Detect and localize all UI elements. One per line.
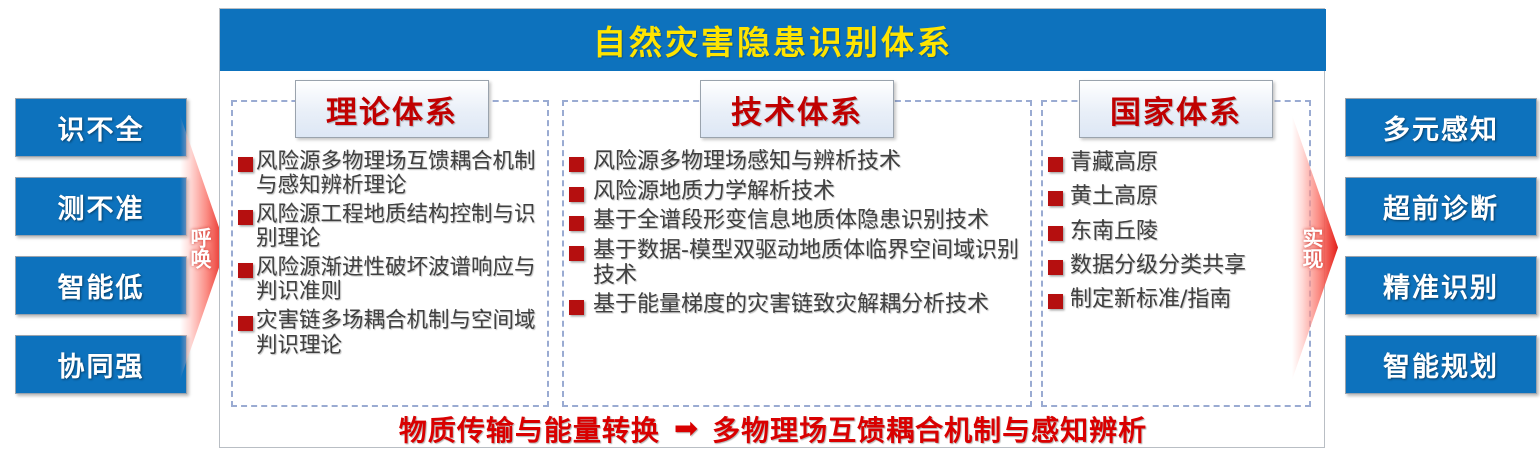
- list-item[interactable]: 风险源多物理场感知与辨析技术: [569, 150, 1024, 175]
- bullet-square-icon: [238, 316, 253, 331]
- bullet-square-icon: [569, 157, 584, 172]
- bullet-square-icon: [238, 263, 253, 278]
- column-technology-header: 技术体系: [700, 80, 894, 138]
- column-technology-list: 风险源多物理场感知与辨析技术 风险源地质力学解析技术 基于全谱段形变信息地质体隐…: [564, 150, 1030, 323]
- list-item[interactable]: 风险源地质力学解析技术: [569, 180, 1024, 205]
- column-technology-title: 技术体系: [731, 87, 863, 132]
- left-arrow-label: 呼唤: [188, 227, 210, 269]
- right-item-2-label: 精准识别: [1383, 266, 1499, 305]
- list-item-label: 风险源多物理场感知与辨析技术: [593, 150, 901, 175]
- list-item[interactable]: 基于能量梯度的灾害链致灾解耦分析技术: [569, 293, 1024, 318]
- bullet-square-icon: [569, 300, 584, 315]
- bullet-square-icon: [238, 157, 253, 172]
- right-goal-column: 多元感知 超前诊断 精准识别 智能规划: [1340, 0, 1540, 456]
- list-item-label: 数据分级分类共享: [1070, 253, 1246, 278]
- list-item[interactable]: 风险源渐进性破坏波谱响应与判识准则: [238, 256, 541, 304]
- column-national-list: 青藏高原 黄土高原 东南丘陵 数据分级分类共享 制定新标准/指南: [1043, 150, 1309, 321]
- page-title: 自然灾害隐患识别体系: [593, 16, 953, 64]
- left-item-2[interactable]: 智能低: [15, 256, 187, 315]
- right-arrow-icon: ➡: [674, 415, 698, 444]
- left-item-1-label: 测不准: [58, 187, 145, 226]
- list-item[interactable]: 基于数据-模型双驱动地质体临界空间域识别技术: [569, 239, 1024, 288]
- bullet-square-icon: [569, 216, 584, 231]
- list-item[interactable]: 风险源工程地质结构控制与识别理论: [238, 203, 541, 251]
- footer-right-text: 多物理场互馈耦合机制与感知辨析: [712, 409, 1147, 449]
- column-national: 国家体系 青藏高原 黄土高原 东南丘陵 数据分级分类共享 制定新标准/指南: [1041, 100, 1311, 407]
- list-item-label: 基于能量梯度的灾害链致灾解耦分析技术: [593, 293, 989, 318]
- list-item-label: 制定新标准/指南: [1070, 287, 1231, 312]
- bullet-square-icon: [1048, 260, 1063, 275]
- right-item-3[interactable]: 智能规划: [1345, 335, 1537, 394]
- list-item[interactable]: 东南丘陵: [1048, 219, 1303, 244]
- left-item-2-label: 智能低: [58, 266, 145, 305]
- right-item-0[interactable]: 多元感知: [1345, 98, 1537, 157]
- list-item[interactable]: 黄土高原: [1048, 184, 1303, 209]
- column-theory-title: 理论体系: [326, 87, 458, 132]
- left-item-1[interactable]: 测不准: [15, 177, 187, 236]
- right-item-1[interactable]: 超前诊断: [1345, 177, 1537, 236]
- list-item[interactable]: 数据分级分类共享: [1048, 253, 1303, 278]
- bullet-square-icon: [1048, 226, 1063, 241]
- panel-title-bar: 自然灾害隐患识别体系: [220, 9, 1326, 71]
- list-item[interactable]: 基于全谱段形变信息地质体隐患识别技术: [569, 209, 1024, 234]
- list-item[interactable]: 制定新标准/指南: [1048, 287, 1303, 312]
- list-item-label: 风险源地质力学解析技术: [593, 180, 835, 205]
- left-problem-column: 识不全 测不准 智能低 协同强: [0, 0, 200, 456]
- left-item-3-label: 协同强: [58, 345, 145, 384]
- footer-caption: 物质传输与能量转换 ➡ 多物理场互馈耦合机制与感知辨析: [220, 409, 1326, 449]
- footer-left-text: 物质传输与能量转换: [399, 409, 660, 449]
- column-national-header: 国家体系: [1079, 80, 1273, 138]
- bullet-square-icon: [1048, 157, 1063, 172]
- left-item-0-label: 识不全: [58, 108, 145, 147]
- list-item-label: 风险源渐进性破坏波谱响应与判识准则: [256, 256, 541, 304]
- list-item-label: 基于全谱段形变信息地质体隐患识别技术: [593, 209, 989, 234]
- right-item-3-label: 智能规划: [1383, 345, 1499, 384]
- left-item-0[interactable]: 识不全: [15, 98, 187, 157]
- column-theory-header: 理论体系: [295, 80, 489, 138]
- list-item-label: 青藏高原: [1070, 150, 1158, 175]
- column-national-title: 国家体系: [1110, 87, 1242, 132]
- bullet-square-icon: [1048, 191, 1063, 206]
- list-item[interactable]: 灾害链多场耦合机制与空间域判识理论: [238, 309, 541, 357]
- bullet-square-icon: [1048, 294, 1063, 309]
- right-item-2[interactable]: 精准识别: [1345, 256, 1537, 315]
- list-item-label: 黄土高原: [1070, 184, 1158, 209]
- list-item-label: 东南丘陵: [1070, 219, 1158, 244]
- list-item[interactable]: 青藏高原: [1048, 150, 1303, 175]
- right-item-1-label: 超前诊断: [1383, 187, 1499, 226]
- right-arrow-label: 实现: [1300, 227, 1322, 269]
- bullet-square-icon: [569, 187, 584, 202]
- bullet-square-icon: [569, 246, 584, 261]
- list-item-label: 风险源多物理场互馈耦合机制与感知辨析理论: [256, 150, 541, 198]
- bullet-square-icon: [238, 210, 253, 225]
- column-theory-list: 风险源多物理场互馈耦合机制与感知辨析理论 风险源工程地质结构控制与识别理论 风险…: [233, 150, 547, 363]
- list-item-label: 风险源工程地质结构控制与识别理论: [256, 203, 541, 251]
- list-item[interactable]: 风险源多物理场互馈耦合机制与感知辨析理论: [238, 150, 541, 198]
- list-item-label: 基于数据-模型双驱动地质体临界空间域识别技术: [593, 239, 1024, 288]
- column-technology: 技术体系 风险源多物理场感知与辨析技术 风险源地质力学解析技术 基于全谱段形变信…: [562, 100, 1032, 407]
- main-panel: 自然灾害隐患识别体系 理论体系 风险源多物理场互馈耦合机制与感知辨析理论 风险源…: [219, 8, 1325, 448]
- list-item-label: 灾害链多场耦合机制与空间域判识理论: [256, 309, 541, 357]
- column-theory: 理论体系 风险源多物理场互馈耦合机制与感知辨析理论 风险源工程地质结构控制与识别…: [231, 100, 549, 407]
- left-item-3[interactable]: 协同强: [15, 335, 187, 394]
- right-item-0-label: 多元感知: [1383, 108, 1499, 147]
- right-arrow-pointer-icon: 实现: [1292, 115, 1338, 380]
